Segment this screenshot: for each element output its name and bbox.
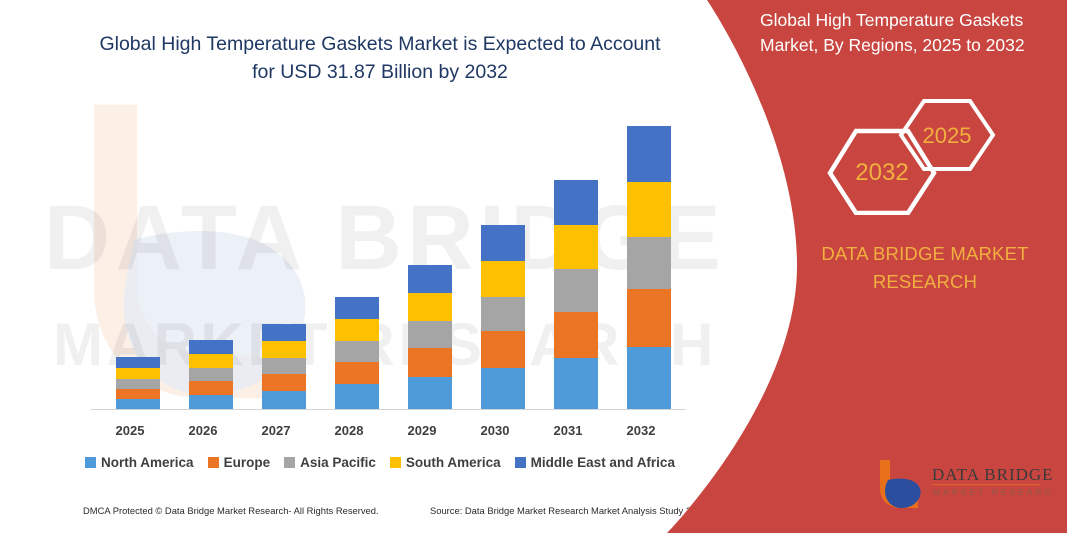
x-label-2029: 2029: [392, 423, 452, 438]
legend-swatch-icon: [390, 457, 401, 468]
legend-label: Europe: [224, 455, 271, 470]
bar-segment-middle-east-and-africa: [627, 126, 671, 182]
svg-text:2025: 2025: [923, 123, 972, 148]
bar-segment-asia-pacific: [481, 297, 525, 331]
bar-2026: [189, 340, 233, 410]
chart-legend: North AmericaEuropeAsia PacificSouth Ame…: [0, 455, 760, 470]
bar-segment-middle-east-and-africa: [116, 357, 160, 368]
bar-segment-south-america: [116, 368, 160, 379]
legend-item-south-america[interactable]: South America: [390, 455, 501, 470]
bar-segment-asia-pacific: [189, 368, 233, 381]
x-label-2027: 2027: [246, 423, 306, 438]
brand-line-1: DATA BRIDGE MARKET: [805, 240, 1045, 268]
bar-segment-middle-east-and-africa: [262, 324, 306, 341]
bar-segment-north-america: [189, 395, 233, 410]
footer-source: Source: Data Bridge Market Research Mark…: [430, 505, 707, 516]
legend-label: Asia Pacific: [300, 455, 376, 470]
bar-segment-asia-pacific: [408, 321, 452, 348]
svg-text:2032: 2032: [855, 159, 908, 186]
legend-swatch-icon: [208, 457, 219, 468]
x-label-2026: 2026: [173, 423, 233, 438]
bar-segment-middle-east-and-africa: [335, 297, 379, 319]
bar-segment-north-america: [335, 384, 379, 410]
panel-title: Global High Temperature Gaskets Market, …: [760, 8, 1060, 58]
bar-segment-south-america: [408, 293, 452, 321]
bar-segment-asia-pacific: [627, 237, 671, 289]
bar-segment-north-america: [408, 377, 452, 410]
bar-segment-south-america: [262, 341, 306, 358]
bar-2029: [408, 265, 452, 410]
bar-segment-north-america: [481, 368, 525, 410]
legend-item-asia-pacific[interactable]: Asia Pacific: [284, 455, 376, 470]
legend-swatch-icon: [284, 457, 295, 468]
data-bridge-logo: DATA BRIDGE MARKET RESEARCH: [874, 458, 1054, 510]
bar-2032: [627, 126, 671, 410]
svg-text:DATA BRIDGE: DATA BRIDGE: [932, 465, 1054, 484]
bar-2025: [116, 357, 160, 410]
bar-segment-south-america: [481, 261, 525, 297]
bar-segment-south-america: [189, 354, 233, 368]
bar-segment-europe: [116, 389, 160, 399]
bar-segment-middle-east-and-africa: [481, 225, 525, 261]
bar-segment-europe: [262, 374, 306, 391]
footer-copyright: DMCA Protected © Data Bridge Market Rese…: [83, 505, 379, 516]
stacked-bar-chart: [75, 110, 685, 410]
bar-segment-asia-pacific: [116, 379, 160, 389]
brand-name: DATA BRIDGE MARKET RESEARCH: [805, 240, 1045, 296]
x-label-2028: 2028: [319, 423, 379, 438]
bar-segment-asia-pacific: [335, 341, 379, 362]
bar-segment-asia-pacific: [554, 269, 598, 312]
x-axis-line: [91, 409, 686, 410]
bar-segment-asia-pacific: [262, 358, 306, 374]
bar-segment-europe: [189, 381, 233, 395]
legend-label: North America: [101, 455, 194, 470]
bar-segment-south-america: [554, 225, 598, 269]
bar-segment-europe: [335, 362, 379, 384]
legend-item-middle-east-and-africa[interactable]: Middle East and Africa: [515, 455, 675, 470]
bar-segment-middle-east-and-africa: [189, 340, 233, 354]
bar-segment-middle-east-and-africa: [554, 180, 598, 225]
bar-2030: [481, 225, 525, 410]
x-label-2025: 2025: [100, 423, 160, 438]
legend-swatch-icon: [515, 457, 526, 468]
hexagon-badges: 2025 2032: [820, 95, 1010, 215]
x-label-2032: 2032: [611, 423, 671, 438]
infographic-canvas: DATA BRIDGE MARKET RESEARCH Global High …: [0, 0, 1067, 533]
brand-line-2: RESEARCH: [805, 268, 1045, 296]
legend-item-north-america[interactable]: North America: [85, 455, 194, 470]
bar-2027: [262, 324, 306, 410]
bar-segment-europe: [481, 331, 525, 368]
bar-segment-north-america: [554, 358, 598, 410]
x-axis-labels: 20252026202720282029203020312032: [91, 423, 686, 443]
bar-segment-europe: [627, 289, 671, 347]
legend-swatch-icon: [85, 457, 96, 468]
bar-segment-south-america: [627, 182, 671, 237]
bar-segment-south-america: [335, 319, 379, 341]
bar-segment-europe: [408, 348, 452, 377]
legend-label: Middle East and Africa: [531, 455, 675, 470]
chart-title: Global High Temperature Gaskets Market i…: [86, 30, 674, 87]
legend-item-europe[interactable]: Europe: [208, 455, 271, 470]
footer: DMCA Protected © Data Bridge Market Rese…: [0, 505, 760, 527]
svg-text:MARKET RESEARCH: MARKET RESEARCH: [933, 487, 1054, 497]
logo-b-mark: [880, 460, 921, 508]
x-label-2030: 2030: [465, 423, 525, 438]
bar-segment-europe: [554, 312, 598, 358]
bar-segment-middle-east-and-africa: [408, 265, 452, 293]
bar-2028: [335, 297, 379, 410]
bar-2031: [554, 180, 598, 410]
x-label-2031: 2031: [538, 423, 598, 438]
bar-segment-north-america: [262, 391, 306, 410]
legend-label: South America: [406, 455, 501, 470]
bar-segment-north-america: [627, 347, 671, 410]
